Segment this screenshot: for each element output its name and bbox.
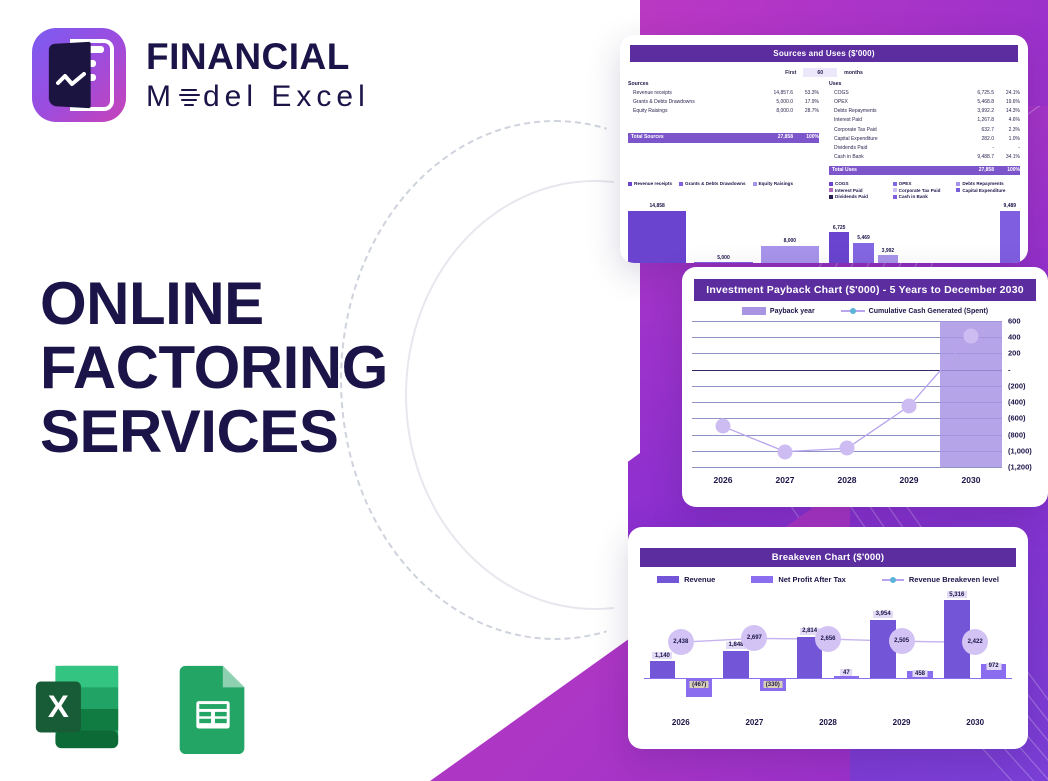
use-row-pct: 1.0%: [994, 135, 1020, 144]
breakeven-revenue-label: 1,140: [652, 652, 672, 659]
table-row: Capital Expenditure282.01.0%: [829, 135, 1020, 144]
payback-y-tick: (800): [1008, 430, 1026, 439]
breakeven-revenue-bar: [723, 651, 749, 678]
sources-legend-label: Revenue receipts: [634, 181, 672, 186]
sources-uses-legends: Revenue receiptsGrants & Debts Drawdowns…: [620, 175, 1028, 199]
investment-payback-card: Investment Payback Chart ($'000) - 5 Yea…: [682, 267, 1048, 507]
bar-label: 6,725: [833, 225, 846, 231]
payback-data-point: [840, 441, 855, 456]
brand-line-1: FINANCIAL: [146, 38, 370, 75]
uses-rows: COGS6,725.524.1%OPEX5,468.819.6%Debts Re…: [829, 89, 1020, 163]
bar-column: 5,469: [853, 203, 873, 263]
total-uses-row: Total Uses 27,858 100%: [829, 166, 1020, 176]
bar: [878, 255, 898, 263]
bar: [761, 246, 819, 263]
uses-legend-item: Interest Paid: [829, 188, 893, 193]
microsoft-excel-icon: X: [28, 658, 126, 756]
source-row-pct: 17.9%: [793, 98, 819, 107]
total-uses-value: 27,858: [960, 166, 994, 176]
use-row-name: COGS: [829, 89, 960, 98]
uses-chart-legend: COGSOPEXDebts RepaymentsInterest PaidCor…: [829, 181, 1020, 199]
total-sources-label: Total Sources: [628, 133, 759, 143]
bar-label: 14,858: [650, 203, 665, 209]
breakeven-legend-item: Net Profit After Tax: [751, 575, 846, 584]
payback-line-swatch-icon: [841, 310, 865, 312]
payback-x-tick: 2030: [940, 475, 1002, 485]
use-row-value: 282.0: [960, 135, 994, 144]
payback-legend-item: Cumulative Cash Generated (Spent): [841, 308, 988, 315]
payback-plot-area: [692, 321, 1002, 467]
bar: [628, 211, 686, 264]
payback-chart-title: Investment Payback Chart ($'000) - 5 Yea…: [694, 279, 1036, 301]
uses-legend-item: Dividends Paid: [829, 194, 893, 199]
payback-data-point: [964, 328, 979, 343]
uses-legend-item: Cash in Bank: [893, 194, 957, 199]
brand-line-2: M del Excel: [146, 82, 370, 112]
brand-o-glyph-icon: [179, 89, 200, 110]
payback-legend-item: Payback year: [742, 307, 815, 315]
breakeven-npat-bar: [834, 676, 860, 678]
use-row-value: -: [960, 144, 994, 153]
sources-legend-swatch-icon: [753, 182, 757, 186]
table-row: Debts Repayments3,992.214.3%: [829, 107, 1020, 116]
source-row-pct: 28.7%: [793, 107, 819, 116]
uses-bar-chart: 6,7255,4693,9921,26863328209,489: [829, 203, 1020, 263]
uses-legend-swatch-icon: [829, 188, 833, 192]
use-row-name: Debts Repayments: [829, 107, 960, 116]
breakeven-x-tick: 2026: [644, 718, 718, 727]
uses-header: Uses: [829, 81, 1020, 87]
period-suffix-label: months: [844, 70, 863, 76]
uses-legend-item: Capital Expenditure: [956, 188, 1020, 193]
bar: [829, 232, 849, 263]
period-prefix-label: First: [785, 70, 796, 76]
payback-chart-legend: Payback yearCumulative Cash Generated (S…: [682, 307, 1048, 315]
uses-legend-swatch-icon: [893, 195, 897, 199]
use-row-pct: 2.3%: [994, 126, 1020, 135]
financial-model-excel-logo-icon: [32, 28, 126, 122]
bar-column: 1,268: [902, 203, 922, 263]
uses-legend-label: COGS: [835, 181, 849, 186]
payback-y-tick: 200: [1008, 349, 1021, 358]
breakeven-x-axis: 20262027202820292030: [644, 718, 1012, 727]
sources-legend-item: Grants & Debts Drawdowns: [679, 181, 746, 186]
use-row-name: Corporate Tax Paid: [829, 126, 960, 135]
headline-line-1: ONLINE: [40, 272, 388, 336]
bar-column: 633: [927, 203, 947, 263]
uses-legend-swatch-icon: [956, 188, 960, 192]
payback-gridline: [692, 467, 1002, 468]
brand-line-2-post: del Excel: [203, 82, 370, 112]
use-row-pct: 4.6%: [994, 116, 1020, 125]
bar: [694, 262, 752, 263]
table-row: Revenue receipts14,857.653.3%: [628, 89, 819, 98]
use-row-name: OPEX: [829, 98, 960, 107]
use-row-value: 1,267.8: [960, 116, 994, 125]
breakeven-npat-label: 972: [986, 663, 1001, 670]
payback-x-tick: 2026: [692, 475, 754, 485]
uses-legend-label: Capital Expenditure: [962, 188, 1005, 193]
bar-column: 6,725: [829, 203, 849, 263]
source-row-pct: 53.3%: [793, 89, 819, 98]
bar: [1000, 211, 1020, 264]
bar-column: 0: [975, 203, 995, 263]
payback-data-point: [902, 399, 917, 414]
bar-label: 8,000: [784, 238, 797, 244]
table-row: Equity Raisings8,000.028.7%: [628, 107, 819, 116]
breakeven-level-marker: 2,422: [962, 629, 988, 655]
payback-x-tick: 2028: [816, 475, 878, 485]
source-row-value: 5,000.0: [759, 98, 793, 107]
breakeven-revenue-bar: [650, 661, 676, 678]
payback-y-tick: (600): [1008, 414, 1026, 423]
headline-line-3: SERVICES: [40, 400, 388, 464]
period-months-input[interactable]: 60: [803, 68, 837, 77]
payback-y-tick: (200): [1008, 381, 1026, 390]
use-row-pct: 34.1%: [994, 153, 1020, 162]
breakeven-plot-area: 1,140(467)2,4381,848(330)2,6972,814472,6…: [644, 590, 1012, 708]
total-sources-pct: 100%: [793, 133, 819, 143]
sources-legend-item: Equity Raisings: [753, 181, 793, 186]
payback-data-point: [778, 444, 793, 459]
bar-label: 5,469: [857, 235, 870, 241]
breakeven-chart-title: Breakeven Chart ($'000): [640, 548, 1016, 567]
breakeven-x-tick: 2029: [865, 718, 939, 727]
breakeven-legend-item: Revenue Breakeven level: [882, 575, 999, 584]
uses-legend-swatch-icon: [893, 188, 897, 192]
source-row-name: Grants & Debts Drawdowns: [628, 98, 759, 107]
bar: [853, 243, 873, 263]
svg-text:X: X: [48, 689, 69, 724]
source-row-name: Revenue receipts: [628, 89, 759, 98]
payback-x-axis: 20262027202820292030: [692, 475, 1002, 485]
use-row-value: 5,468.8: [960, 98, 994, 107]
sources-bar-chart: 14,8585,0008,000: [628, 203, 819, 263]
total-uses-pct: 100%: [994, 166, 1020, 176]
payback-y-tick: 400: [1008, 333, 1021, 342]
total-sources-row: Total Sources 27,858 100%: [628, 133, 819, 143]
source-row-value: 8,000.0: [759, 107, 793, 116]
uses-legend-swatch-icon: [893, 182, 897, 186]
use-row-value: 632.7: [960, 126, 994, 135]
payback-data-point: [716, 419, 731, 434]
breakeven-level-marker: 2,656: [815, 626, 841, 652]
payback-chart-body: 600400200-(200)(400)(600)(800)(1,000)(1,…: [682, 321, 1048, 467]
google-sheets-icon: [164, 658, 262, 756]
payback-legend-label: Cumulative Cash Generated (Spent): [869, 308, 988, 315]
bar-column: 8,000: [761, 203, 819, 263]
headline-line-2: FACTORING: [40, 336, 388, 400]
breakeven-npat-label: 47: [841, 669, 853, 676]
uses-legend-swatch-icon: [829, 182, 833, 186]
table-row: Cash in Bank9,488.734.1%: [829, 153, 1020, 162]
use-row-name: Capital Expenditure: [829, 135, 960, 144]
payback-y-tick: (1,000): [1008, 446, 1032, 455]
total-uses-label: Total Uses: [829, 166, 960, 176]
sources-chart-legend: Revenue receiptsGrants & Debts Drawdowns…: [628, 181, 819, 186]
breakeven-bar-swatch-icon: [751, 576, 773, 583]
breakeven-x-tick: 2028: [791, 718, 865, 727]
breakeven-legend-item: Revenue: [657, 575, 715, 584]
total-sources-value: 27,858: [759, 133, 793, 143]
bar-label: 5,000: [717, 255, 730, 261]
table-row: OPEX5,468.819.6%: [829, 98, 1020, 107]
bar-column: 5,000: [694, 203, 752, 263]
uses-legend-item: COGS: [829, 181, 893, 186]
poster-canvas: FINANCIAL M del Excel ONLINE FACTORING S…: [0, 0, 1048, 781]
sources-header: Sources: [628, 81, 819, 87]
sources-legend-label: Equity Raisings: [759, 181, 793, 186]
breakeven-level-marker: 2,438: [668, 629, 694, 655]
use-row-name: Interest Paid: [829, 116, 960, 125]
use-row-pct: 19.6%: [994, 98, 1020, 107]
logo-chart-zigzag-icon: [56, 72, 86, 88]
uses-column: Uses COGS6,725.524.1%OPEX5,468.819.6%Deb…: [829, 81, 1020, 175]
sources-uses-table: Sources Revenue receipts14,857.653.3%Gra…: [620, 77, 1028, 175]
uses-legend-swatch-icon: [829, 195, 833, 199]
use-row-value: 3,992.2: [960, 107, 994, 116]
breakeven-x-tick: 2027: [718, 718, 792, 727]
uses-legend-item: OPEX: [893, 181, 957, 186]
breakeven-npat-label: 458: [912, 670, 927, 677]
breakeven-level-marker: 2,697: [741, 625, 767, 651]
uses-legend-label: OPEX: [899, 181, 912, 186]
breakeven-level-marker: 2,505: [889, 628, 915, 654]
table-row: Dividends Paid--: [829, 144, 1020, 153]
bar-label: 3,992: [882, 248, 895, 254]
source-row-value: 14,857.6: [759, 89, 793, 98]
uses-legend-label: Cash in Bank: [899, 194, 928, 199]
bar-column: 9,489: [1000, 203, 1020, 263]
payback-x-tick: 2029: [878, 475, 940, 485]
period-selector-row: First 60 months: [620, 68, 1028, 77]
brand-line-2-pre: M: [146, 82, 176, 112]
breakeven-npat-label: (330): [763, 681, 782, 688]
sources-spacer: [628, 116, 819, 130]
use-row-pct: 24.1%: [994, 89, 1020, 98]
use-row-name: Cash in Bank: [829, 153, 960, 162]
sources-uses-title: Sources and Uses ($'000): [630, 45, 1018, 62]
breakeven-legend-label: Net Profit After Tax: [778, 575, 846, 584]
app-compatibility-icons: X: [28, 658, 262, 756]
breakeven-x-tick: 2030: [938, 718, 1012, 727]
use-row-value: 6,725.5: [960, 89, 994, 98]
use-row-value: 9,488.7: [960, 153, 994, 162]
brand-wordmark: FINANCIAL M del Excel: [146, 38, 370, 112]
breakeven-legend-label: Revenue Breakeven level: [909, 575, 999, 584]
sources-column: Sources Revenue receipts14,857.653.3%Gra…: [628, 81, 819, 175]
bar-column: 3,992: [878, 203, 898, 263]
page-title: ONLINE FACTORING SERVICES: [40, 272, 388, 465]
table-row: COGS6,725.524.1%: [829, 89, 1020, 98]
breakeven-line-swatch-icon: [882, 579, 904, 581]
uses-legend-swatch-icon: [956, 182, 960, 186]
table-row: Interest Paid1,267.84.6%: [829, 116, 1020, 125]
breakeven-npat-label: (467): [690, 681, 709, 688]
use-row-pct: 14.3%: [994, 107, 1020, 116]
payback-x-tick: 2027: [754, 475, 816, 485]
uses-legend-label: Interest Paid: [835, 188, 863, 193]
payback-band-swatch-icon: [742, 307, 766, 315]
bar-label: 9,489: [1004, 203, 1017, 209]
sources-legend-label: Grants & Debts Drawdowns: [685, 181, 746, 186]
breakeven-legend-label: Revenue: [684, 575, 715, 584]
uses-legend-label: Dividends Paid: [835, 194, 868, 199]
source-row-name: Equity Raisings: [628, 107, 759, 116]
breakeven-revenue-label: 5,316: [947, 591, 967, 598]
breakeven-revenue-label: 3,954: [873, 611, 893, 618]
payback-y-tick: (1,200): [1008, 463, 1032, 472]
payback-y-tick: -: [1008, 365, 1011, 374]
breakeven-bar-swatch-icon: [657, 576, 679, 583]
sources-legend-swatch-icon: [679, 182, 683, 186]
brand-lockup: FINANCIAL M del Excel: [32, 28, 370, 122]
payback-legend-label: Payback year: [770, 308, 815, 315]
sources-rows: Revenue receipts14,857.653.3%Grants & De…: [628, 89, 819, 117]
bar-column: 14,858: [628, 203, 686, 263]
sources-and-uses-card: Sources and Uses ($'000) First 60 months…: [620, 35, 1028, 263]
uses-legend-item: Corporate Tax Paid: [893, 188, 957, 193]
breakeven-chart-legend: RevenueNet Profit After TaxRevenue Break…: [628, 575, 1028, 584]
uses-legend-label: Corporate Tax Paid: [899, 188, 941, 193]
use-row-name: Dividends Paid: [829, 144, 960, 153]
use-row-pct: -: [994, 144, 1020, 153]
payback-y-tick: (400): [1008, 398, 1026, 407]
table-row: Grants & Debts Drawdowns5,000.017.9%: [628, 98, 819, 107]
payback-y-tick: 600: [1008, 317, 1021, 326]
bar-column: 282: [951, 203, 971, 263]
uses-legend-label: Debts Repayments: [962, 181, 1003, 186]
sources-uses-bar-charts: 14,8585,0008,000 6,7255,4693,9921,268633…: [620, 199, 1028, 263]
payback-y-axis: 600400200-(200)(400)(600)(800)(1,000)(1,…: [1002, 321, 1048, 467]
sources-legend-item: Revenue receipts: [628, 181, 672, 186]
sources-legend-swatch-icon: [628, 182, 632, 186]
breakeven-chart-card: Breakeven Chart ($'000) RevenueNet Profi…: [628, 527, 1028, 749]
uses-legend-item: Debts Repayments: [956, 181, 1020, 186]
table-row: Corporate Tax Paid632.72.3%: [829, 126, 1020, 135]
